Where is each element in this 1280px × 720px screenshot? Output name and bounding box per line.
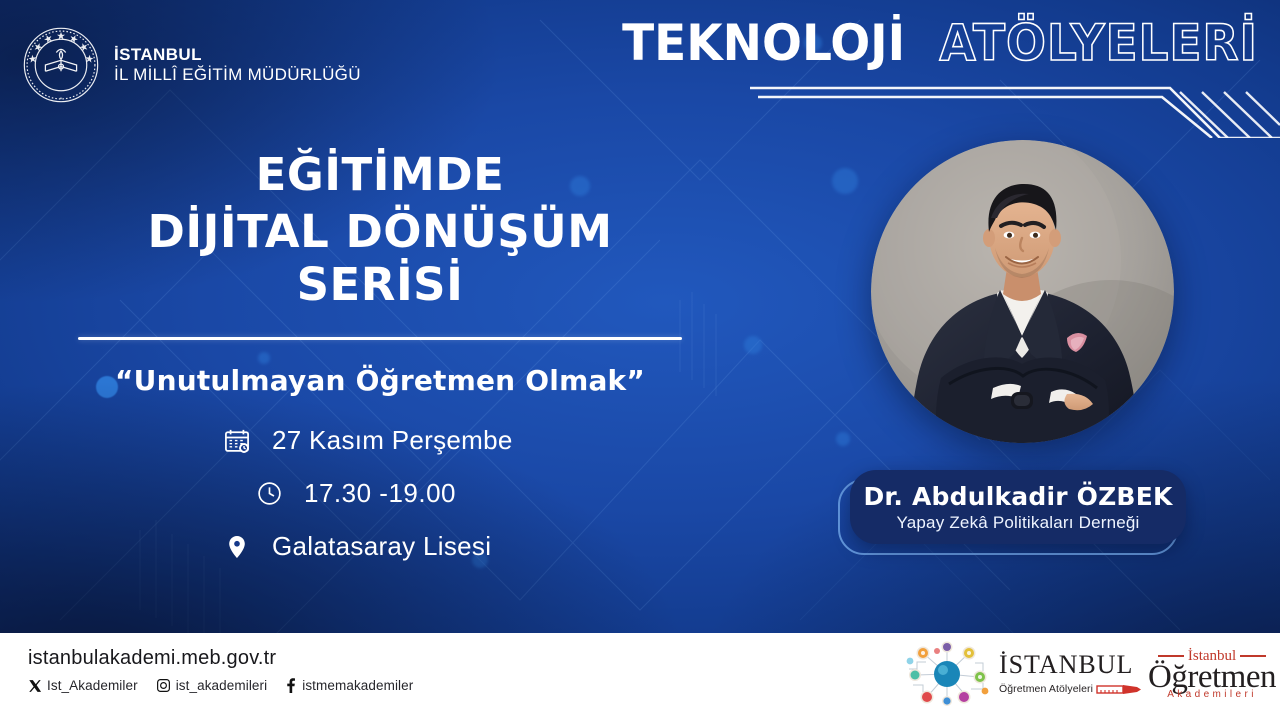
svg-text:★: ★ [59,96,62,100]
program-banner-row: TEKNOLOJİ ATÖLYELERİ [604,14,1258,72]
facebook-icon [285,678,297,693]
atolyeleri-logo-subtitle: Öğretmen Atölyeleri [999,683,1093,695]
footer-bar: istanbulakademi.meb.gov.tr Ist_Akademile… [0,633,1280,720]
location-pin-icon [222,532,252,562]
speaker-badge: Dr. Abdulkadir ÖZBEK Yapay Zekâ Politika… [838,470,1188,554]
network-nodes-icon [901,639,993,709]
speaker-organization: Yapay Zekâ Politikaları Derneği [896,513,1139,533]
detail-row-location: Galatasaray Lisesi [222,531,513,562]
instagram-handle: ist_akademileri [176,678,268,693]
instagram-icon [156,678,171,693]
detail-time-text: 17.30 -19.00 [304,478,456,509]
detail-row-time: 17.30 -19.00 [222,478,513,509]
social-x[interactable]: Ist_Akademiler [28,678,138,693]
network-nodes-logo [901,639,993,709]
akademileri-rule-right [1240,655,1266,657]
meb-org-line1: İSTANBUL [114,45,361,65]
program-banner: TEKNOLOJİ ATÖLYELERİ [604,14,1258,72]
clock-icon [254,479,284,509]
pencil-ruler-icon [1096,681,1142,697]
event-subtitle: “Unutulmayan Öğretmen Olmak” [78,364,682,397]
facebook-handle: istmemakademiler [302,678,413,693]
social-facebook[interactable]: istmemakademiler [285,678,413,693]
footer-contact: istanbulakademi.meb.gov.tr Ist_Akademile… [28,647,413,693]
detail-location-text: Galatasaray Lisesi [272,531,491,562]
website-url[interactable]: istanbulakademi.meb.gov.tr [28,647,413,670]
detail-row-date: 27 Kasım Perşembe [222,425,513,456]
event-poster: ★ İSTANBUL İL MİLLÎ EĞİTİM MÜDÜRLÜĞÜ TEK… [0,0,1280,720]
akademileri-rule-left [1158,655,1184,657]
speaker-badge-box: Dr. Abdulkadir ÖZBEK Yapay Zekâ Politika… [850,470,1186,544]
meb-org-line2: İL MİLLÎ EĞİTİM MÜDÜRLÜĞÜ [114,65,361,85]
main-title-block: EĞİTİMDE DİJİTAL DÖNÜŞÜM SERİSİ “Unutulm… [78,148,682,397]
social-instagram[interactable]: ist_akademileri [156,678,268,693]
akademileri-logo-bottom: Akademileri [1167,690,1257,700]
title-divider [78,337,682,340]
istanbul-ogretmen-akademileri-logo: İstanbul Öğretmen Akademileri [1148,649,1276,700]
istanbul-atolyeleri-logo: İSTANBUL Öğretmen Atölyeleri [999,652,1142,697]
meb-logo-text: İSTANBUL İL MİLLÎ EĞİTİM MÜDÜRLÜĞÜ [114,45,361,85]
x-twitter-icon [28,679,42,693]
banner-line-decoration [750,80,1280,138]
x-handle: Ist_Akademiler [47,678,138,693]
meb-seal-icon: ★ [22,26,100,104]
calendar-icon [222,426,252,456]
speaker-portrait [871,140,1174,443]
title-line-2: DİJİTAL DÖNÜŞÜM SERİSİ [78,205,682,311]
banner-word-atolyeleri: ATÖLYELERİ [939,14,1258,72]
speaker-name: Dr. Abdulkadir ÖZBEK [863,482,1172,511]
banner-word-teknoloji: TEKNOLOJİ [622,14,905,72]
atolyeleri-logo-subrow: Öğretmen Atölyeleri [999,681,1142,697]
title-line-1: EĞİTİMDE [78,148,682,201]
detail-date-text: 27 Kasım Perşembe [272,425,513,456]
speaker-photo [871,140,1174,443]
atolyeleri-logo-title: İSTANBUL [999,652,1133,678]
social-handles: Ist_Akademiler ist_akademileri [28,678,413,693]
meb-header-logo: ★ İSTANBUL İL MİLLÎ EĞİTİM MÜDÜRLÜĞÜ [22,26,361,104]
footer-logos: İSTANBUL Öğretmen Atölyeleri [901,639,1276,709]
event-details: 27 Kasım Perşembe 17.30 -19.00 Galatasar… [222,425,513,562]
